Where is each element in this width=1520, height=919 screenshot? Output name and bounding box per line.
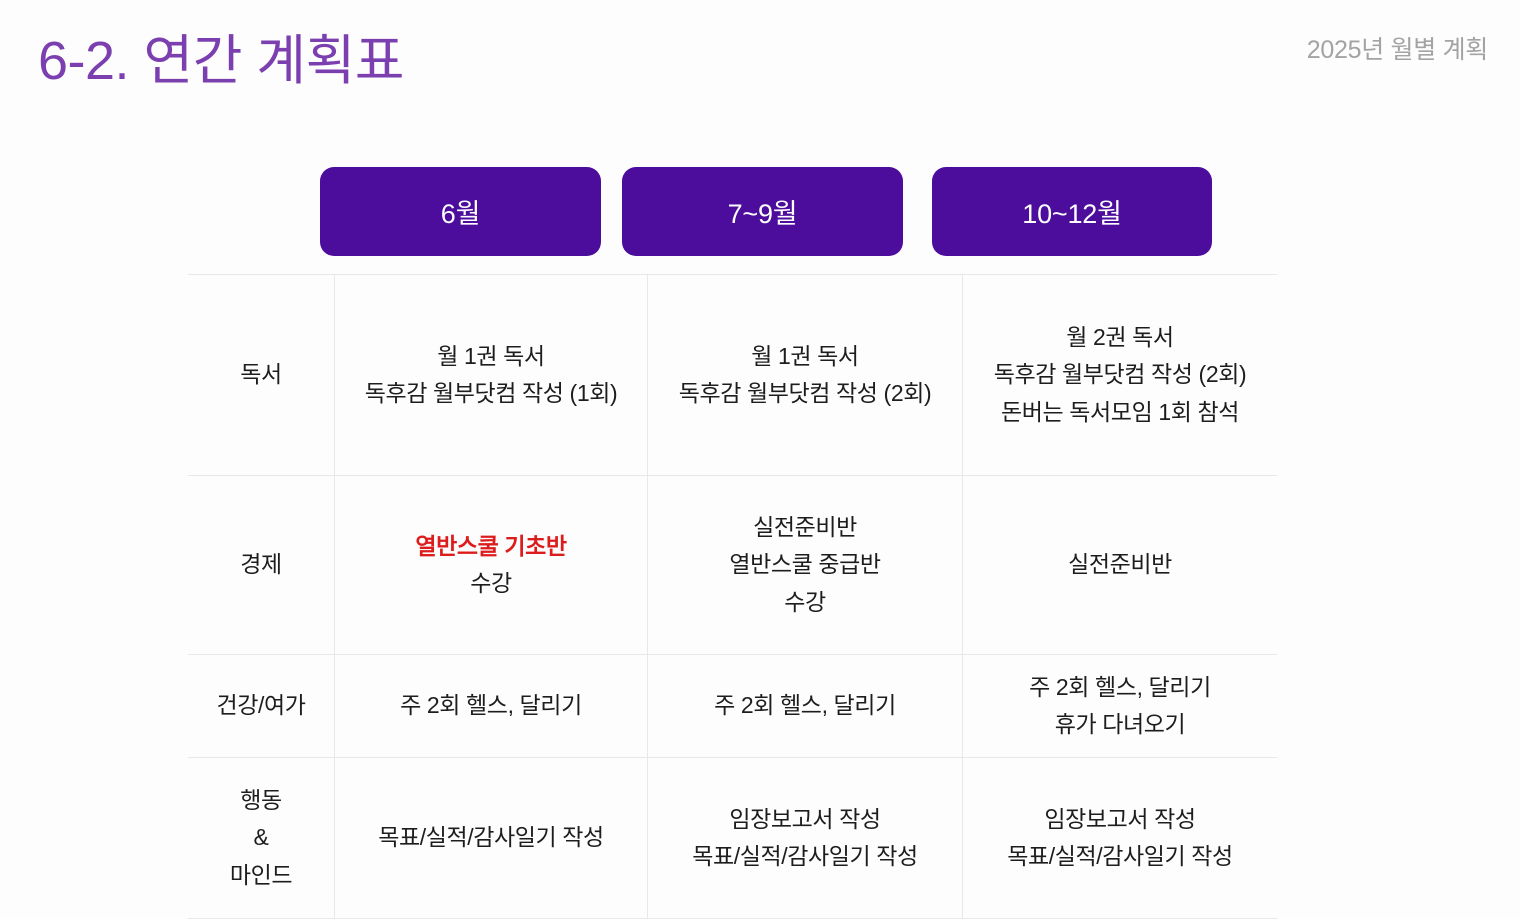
cell-line: 휴가 다녀오기	[971, 706, 1269, 743]
cell-action-mind-oct-dec: 임장보고서 작성목표/실적/감사일기 작성	[963, 758, 1278, 919]
period-chip-1[interactable]: 6월	[320, 167, 601, 256]
row-label-line: &	[196, 819, 326, 856]
annual-plan-table: 독서 월 1권 독서독후감 월부닷컴 작성 (1회) 월 1권 독서독후감 월부…	[188, 274, 1277, 919]
period-chips-row: 6월 7~9월 10~12월	[188, 167, 1210, 256]
cell-health-jul-sep: 주 2회 헬스, 달리기	[648, 655, 963, 758]
period-chip-3[interactable]: 10~12월	[932, 167, 1212, 256]
cell-line-highlighted: 열반스쿨 기초반	[343, 528, 639, 565]
table-row: 독서 월 1권 독서독후감 월부닷컴 작성 (1회) 월 1권 독서독후감 월부…	[188, 275, 1277, 476]
cell-line: 월 1권 독서	[343, 338, 639, 375]
period-chip-2[interactable]: 7~9월	[622, 167, 903, 256]
cell-health-oct-dec: 주 2회 헬스, 달리기휴가 다녀오기	[963, 655, 1278, 758]
cell-line: 주 2회 헬스, 달리기	[656, 687, 954, 724]
cell-line: 주 2회 헬스, 달리기	[343, 687, 639, 724]
cell-line: 목표/실적/감사일기 작성	[343, 819, 639, 856]
cell-line: 월 1권 독서	[656, 338, 954, 375]
cell-reading-jun: 월 1권 독서독후감 월부닷컴 작성 (1회)	[335, 275, 648, 476]
cell-action-mind-jun: 목표/실적/감사일기 작성	[335, 758, 648, 919]
table-row: 경제 열반스쿨 기초반수강 실전준비반열반스쿨 중급반수강 실전준비반	[188, 476, 1277, 655]
annual-plan-table-body: 독서 월 1권 독서독후감 월부닷컴 작성 (1회) 월 1권 독서독후감 월부…	[188, 275, 1277, 919]
cell-health-jun: 주 2회 헬스, 달리기	[335, 655, 648, 758]
cell-line: 임장보고서 작성	[971, 801, 1269, 838]
row-label-reading: 독서	[188, 275, 335, 476]
row-label-line: 행동	[196, 782, 326, 819]
cell-line: 목표/실적/감사일기 작성	[971, 838, 1269, 875]
row-label-line: 건강/여가	[196, 687, 326, 724]
cell-economy-jul-sep: 실전준비반열반스쿨 중급반수강	[648, 476, 963, 655]
cell-line: 독후감 월부닷컴 작성 (1회)	[343, 375, 639, 412]
row-label-economy: 경제	[188, 476, 335, 655]
cell-reading-oct-dec: 월 2권 독서독후감 월부닷컴 작성 (2회)돈버는 독서모임 1회 참석	[963, 275, 1278, 476]
cell-line: 돈버는 독서모임 1회 참석	[971, 394, 1269, 431]
cell-line: 실전준비반	[656, 509, 954, 546]
cell-reading-jul-sep: 월 1권 독서독후감 월부닷컴 작성 (2회)	[648, 275, 963, 476]
cell-line: 수강	[343, 565, 639, 602]
row-label-line: 경제	[196, 546, 326, 583]
row-label-line: 독서	[196, 356, 326, 393]
page-title: 6-2. 연간 계획표	[38, 16, 404, 95]
cell-economy-oct-dec: 실전준비반	[963, 476, 1278, 655]
cell-line: 독후감 월부닷컴 작성 (2회)	[656, 375, 954, 412]
cell-line: 목표/실적/감사일기 작성	[656, 838, 954, 875]
cell-line: 월 2권 독서	[971, 319, 1269, 356]
table-row: 건강/여가 주 2회 헬스, 달리기 주 2회 헬스, 달리기 주 2회 헬스,…	[188, 655, 1277, 758]
page-subtitle: 2025년 월별 계획	[1307, 30, 1488, 66]
slide-header: 6-2. 연간 계획표 2025년 월별 계획	[0, 0, 1520, 120]
cell-line: 독후감 월부닷컴 작성 (2회)	[971, 356, 1269, 393]
cell-line: 수강	[656, 584, 954, 621]
cell-line: 임장보고서 작성	[656, 801, 954, 838]
row-label-health: 건강/여가	[188, 655, 335, 758]
table-row: 행동&마인드 목표/실적/감사일기 작성 임장보고서 작성목표/실적/감사일기 …	[188, 758, 1277, 919]
cell-line: 주 2회 헬스, 달리기	[971, 669, 1269, 706]
cell-line: 열반스쿨 중급반	[656, 546, 954, 583]
row-label-action-mind: 행동&마인드	[188, 758, 335, 919]
cell-economy-jun: 열반스쿨 기초반수강	[335, 476, 648, 655]
cell-action-mind-jul-sep: 임장보고서 작성목표/실적/감사일기 작성	[648, 758, 963, 919]
row-label-line: 마인드	[196, 857, 326, 894]
cell-line: 실전준비반	[971, 546, 1269, 583]
